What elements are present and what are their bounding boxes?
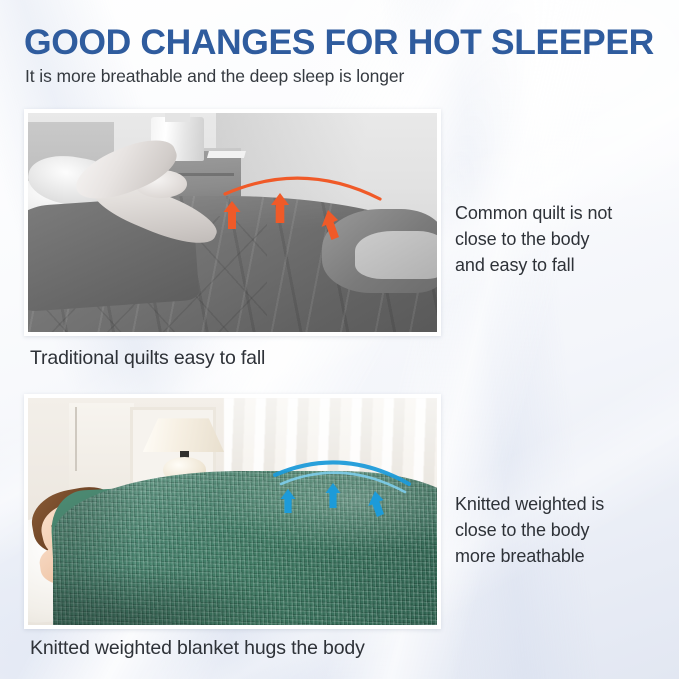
panel-knitted-blanket <box>24 394 441 629</box>
side-text-knitted-blanket: Knitted weighted is close to the body mo… <box>455 491 670 569</box>
page-subtitle: It is more breathable and the deep sleep… <box>25 66 404 87</box>
blanket-bottom-edge <box>53 623 437 625</box>
side-text-line: Knitted weighted is <box>455 491 670 517</box>
side-text-traditional-quilt: Common quilt is not close to the body an… <box>455 200 670 278</box>
side-text-line: and easy to fall <box>455 252 670 278</box>
page-title: GOOD CHANGES FOR HOT SLEEPER <box>24 25 664 61</box>
side-text-line: close to the body <box>455 517 670 543</box>
side-text-line: close to the body <box>455 226 670 252</box>
caption-traditional-quilt: Traditional quilts easy to fall <box>30 347 265 370</box>
vase-neck <box>165 113 190 122</box>
curtain-cord <box>75 407 77 471</box>
sleeper-leg <box>65 141 237 251</box>
side-text-line: more breathable <box>455 543 670 569</box>
caption-knitted-blanket: Knitted weighted blanket hugs the body <box>30 637 365 660</box>
photo-traditional-quilt <box>28 113 437 332</box>
blanket-shading <box>53 471 437 625</box>
far-bedding <box>355 231 437 279</box>
panel-traditional-quilt <box>24 109 441 336</box>
side-text-line: Common quilt is not <box>455 200 670 226</box>
infographic-canvas: GOOD CHANGES FOR HOT SLEEPER It is more … <box>0 0 679 679</box>
green-knitted-blanket <box>53 471 437 625</box>
photo-knitted-blanket <box>28 398 437 625</box>
